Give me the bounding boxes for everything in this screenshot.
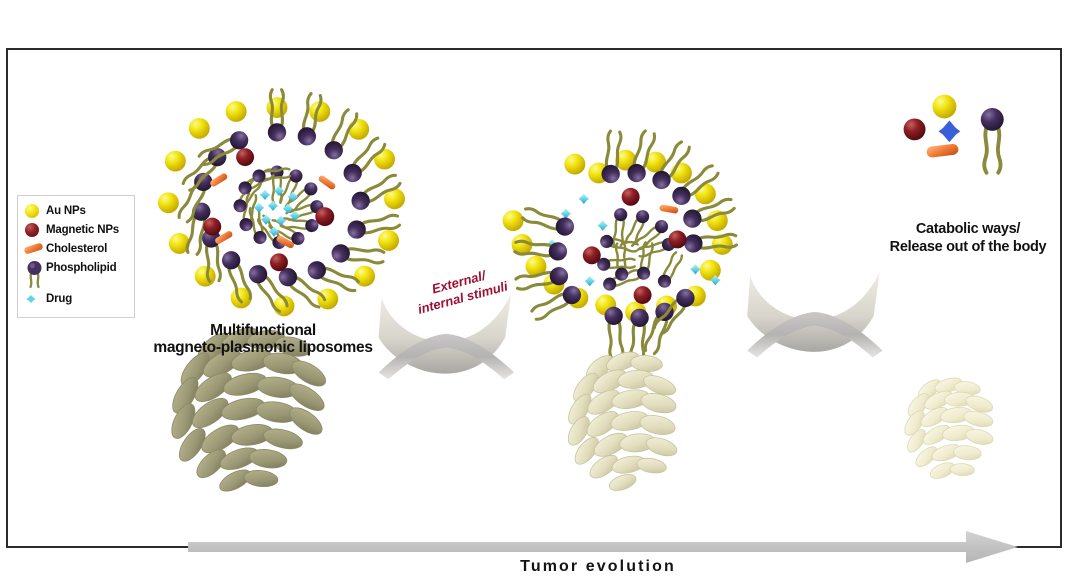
legend-item-phospholipid: Phospholipid: [24, 259, 129, 277]
cholesterol-icon: [24, 240, 46, 258]
drug-icon: [24, 290, 46, 308]
tumor-evolution-label: Tumor evolution: [438, 558, 758, 576]
illustration-canvas: [8, 50, 1060, 546]
legend-label-magnetic-nps: Magnetic NPs: [46, 224, 119, 236]
tumor-mass-small: [901, 375, 995, 481]
catabolic-caption-line1: Catabolic ways/: [863, 220, 1068, 238]
legend-item-au-nps: Au NPs: [24, 202, 129, 220]
legend-box: Au NPs Magnetic NPs Cholesterol: [17, 195, 135, 318]
legend-label-cholesterol: Cholesterol: [46, 243, 107, 255]
liposome-caption-line2: magneto-plasmonic liposomes: [118, 339, 408, 356]
bilayer-fragment-lower: [604, 242, 698, 361]
magnetic-np-single: [904, 118, 926, 140]
intact-liposome-diagram: [158, 90, 405, 317]
drug-single: [939, 121, 961, 143]
catabolic-components-diagram: [904, 95, 1004, 173]
legend-label-phospholipid: Phospholipid: [46, 262, 116, 274]
cholesterol-single: [926, 143, 959, 158]
legend-item-drug: Drug: [24, 289, 129, 309]
catabolic-caption-line2: Release out of the body: [863, 238, 1068, 256]
legend-label-drug: Drug: [46, 293, 72, 305]
liposome-caption-line1: Multifunctional: [118, 322, 408, 339]
gold-nanoparticle-icon: [24, 202, 46, 220]
disassembled-liposome-diagram: [503, 130, 737, 361]
figure-frame: Au NPs Magnetic NPs Cholesterol: [6, 48, 1062, 548]
transition-hourglass-2: [747, 272, 882, 357]
phospholipid-single: [981, 108, 1004, 173]
legend-item-cholesterol: Cholesterol: [24, 240, 129, 258]
phospholipid-icon: [24, 259, 46, 277]
tumor-mass-medium: [564, 348, 679, 494]
catabolic-caption: Catabolic ways/ Release out of the body: [863, 220, 1068, 256]
legend-item-magnetic-nps: Magnetic NPs: [24, 221, 129, 239]
magnetic-nanoparticle-icon: [24, 221, 46, 239]
legend-label-au-nps: Au NPs: [46, 205, 86, 217]
liposome-caption: Multifunctional magneto-plasmonic liposo…: [118, 322, 408, 356]
au-np-single: [932, 95, 956, 119]
